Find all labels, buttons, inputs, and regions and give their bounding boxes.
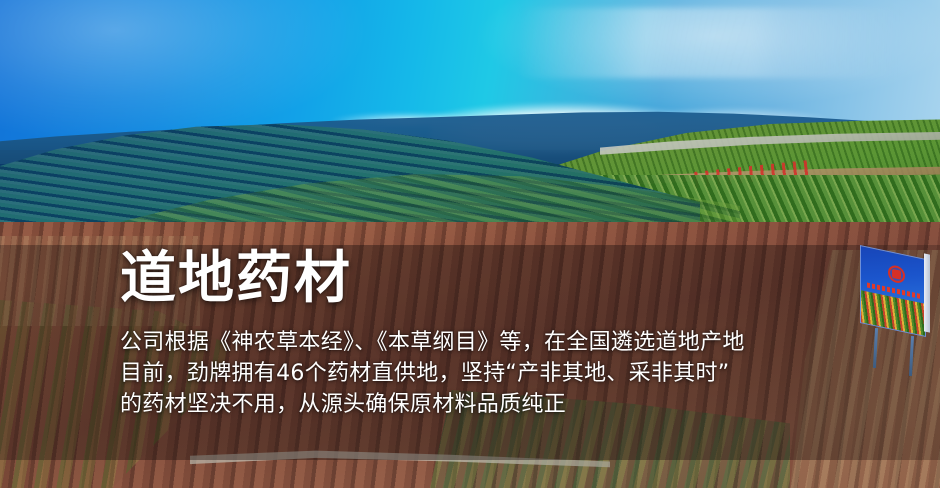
wispy-clouds bbox=[520, 8, 940, 78]
body-line-3: 的药材坚决不用，从源头确保原材料品质纯正 bbox=[120, 389, 900, 420]
page-title: 道地药材 bbox=[120, 250, 352, 309]
body-copy: 公司根据《神农草本经》、《本草纲目》等，在全国遴选道地产地 目前，劲牌拥有46个… bbox=[120, 327, 900, 420]
body-line-2: 目前，劲牌拥有46个药材直供地，坚持“产非其地、采非其时” bbox=[120, 358, 900, 389]
hero-banner: 道地药材 公司根据《神农草本经》、《本草纲目》等，在全国遴选道地产地 目前，劲牌… bbox=[0, 0, 940, 488]
billboard-side-edge bbox=[924, 253, 930, 332]
billboard-face bbox=[860, 245, 926, 337]
billboard-seal-center bbox=[892, 269, 901, 280]
body-line-1: 公司根据《神农草本经》、《本草纲目》等，在全国遴选道地产地 bbox=[120, 327, 900, 358]
